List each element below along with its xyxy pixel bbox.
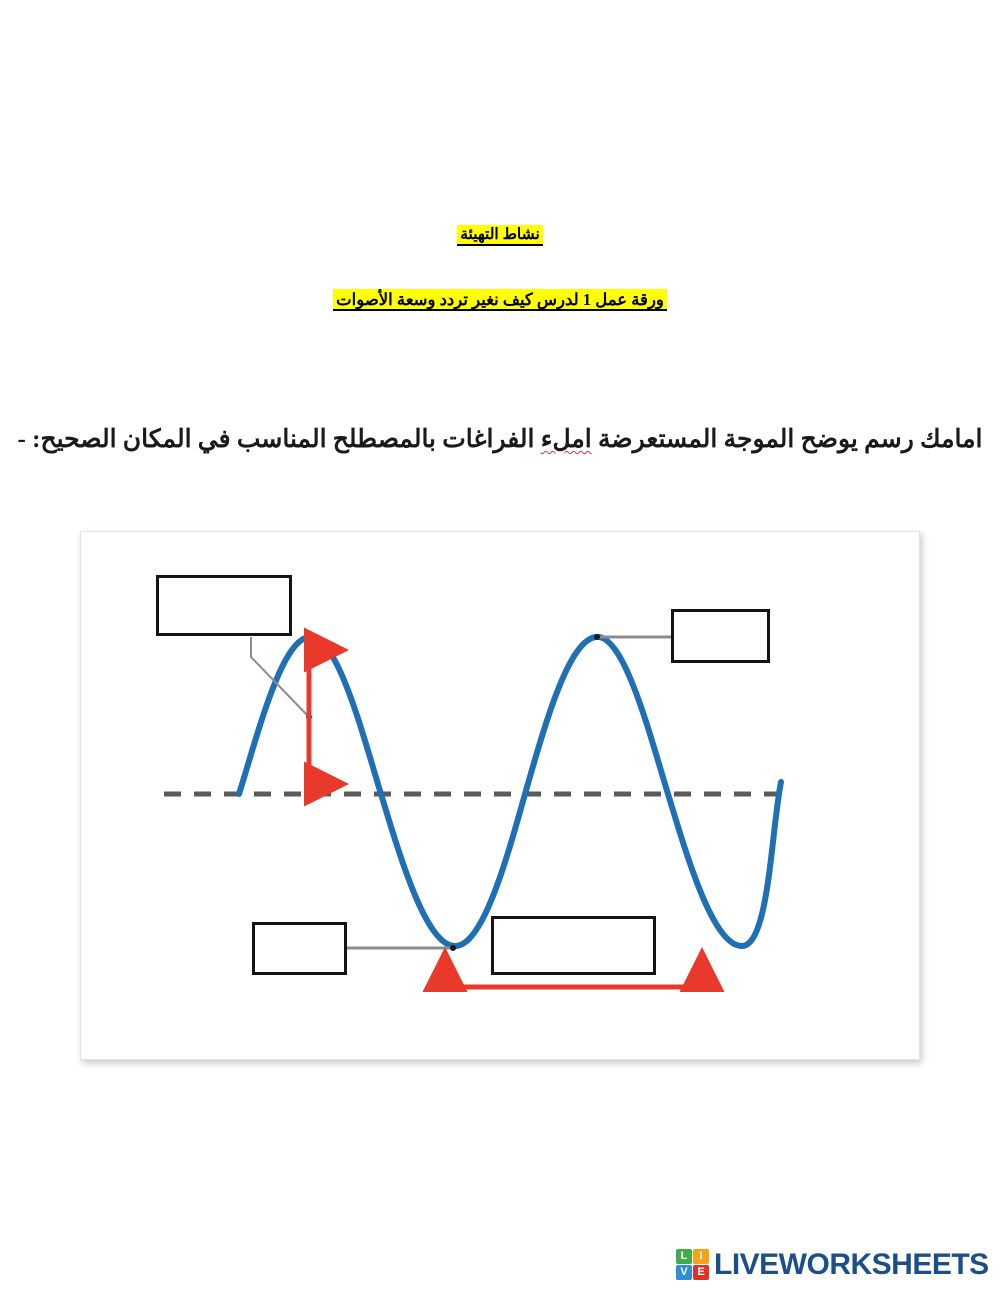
worksheet-title-text: ورقة عمل 1 لدرس كيف نغير تردد وسعة الأصو…	[333, 289, 667, 311]
peak-leader-dot	[594, 634, 600, 640]
liveworksheets-logo[interactable]: L I V E LIVEWORKSHEETS	[676, 1249, 989, 1280]
logo-tile-l: L	[676, 1249, 692, 1264]
instruction-line: امامك رسم يوضح الموجة المستعرضة املء الف…	[0, 424, 1000, 454]
liveworksheets-logo-text: LIVEWORKSHEETS	[714, 1250, 989, 1280]
crest-label-box[interactable]	[156, 575, 292, 636]
liveworksheets-logo-mark: L I V E	[676, 1249, 709, 1280]
instruction-squiggly-word: املء	[541, 426, 592, 453]
worksheet-title-heading: ورقة عمل 1 لدرس كيف نغير تردد وسعة الأصو…	[0, 289, 1000, 311]
instruction-part-after: الفراغات بالمصطلح المناسب في المكان الصح…	[18, 426, 541, 453]
instruction-part-before: امامك رسم يوضح الموجة المستعرضة	[592, 426, 983, 453]
trough-leader-dot	[450, 945, 456, 951]
sine-wave-curve	[239, 637, 781, 946]
wave-diagram-panel	[80, 531, 920, 1060]
activity-heading-text: نشاط التهيئة	[457, 225, 543, 246]
trough-label-box[interactable]	[252, 922, 347, 975]
activity-heading: نشاط التهيئة	[0, 225, 1000, 246]
logo-tile-e: E	[693, 1265, 709, 1280]
logo-tile-v: V	[676, 1265, 692, 1280]
peak-label-box[interactable]	[671, 609, 770, 663]
logo-tile-i: I	[693, 1249, 709, 1264]
wavelength-label-box[interactable]	[491, 916, 656, 975]
